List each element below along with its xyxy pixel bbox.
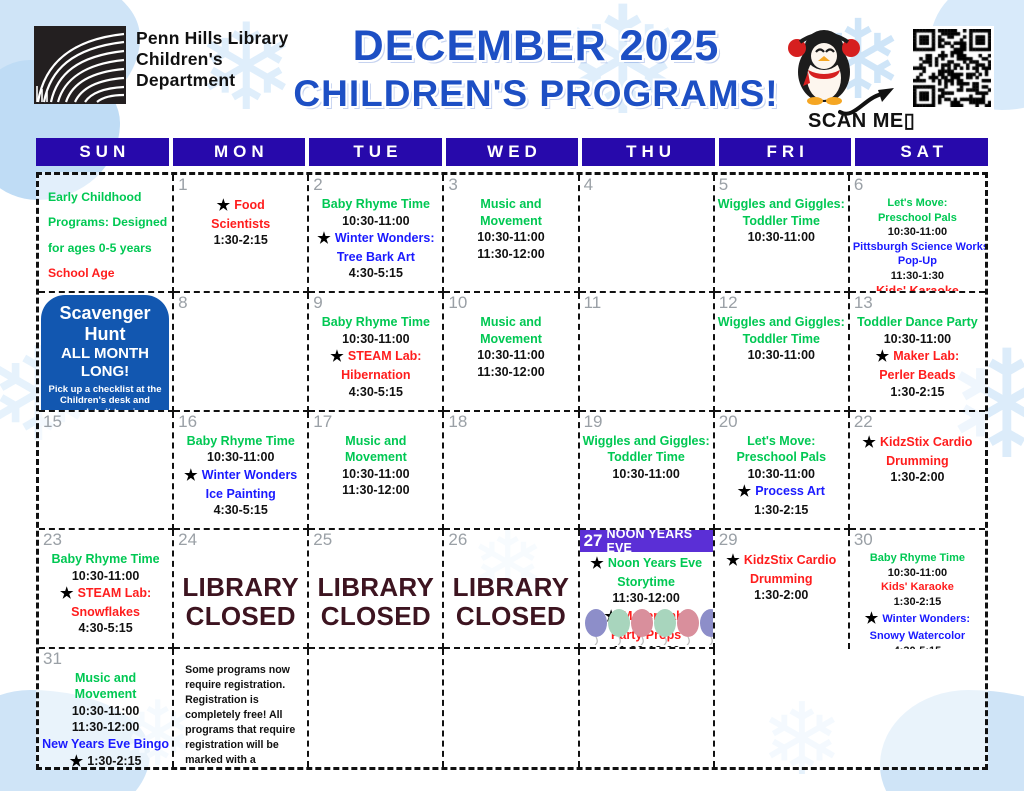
event-text: 11:30-12:00 bbox=[72, 720, 139, 734]
event-text: Tree Bark Art bbox=[337, 250, 415, 264]
event-text: Movement bbox=[75, 687, 137, 701]
event-text: Baby Rhyme Time bbox=[870, 552, 965, 564]
event-text: 10:30-11:00 bbox=[888, 226, 947, 238]
event-text: 10:30-11:00 bbox=[748, 348, 815, 362]
weekday-header-row: SUN MON TUE WED THU FRI SAT bbox=[36, 138, 988, 166]
day-cell-20[interactable]: 20Let's Move:Preschool Pals10:30-11:00★ … bbox=[715, 412, 850, 530]
event-title: Hibernation bbox=[312, 367, 439, 384]
closed-line-1: LIBRARY bbox=[177, 573, 304, 602]
closed-line-1: LIBRARY bbox=[312, 573, 439, 602]
nye-day-number: 27 bbox=[584, 531, 603, 551]
day-number: 13 bbox=[854, 293, 873, 313]
event-text: Music and bbox=[480, 197, 541, 211]
day-number: 12 bbox=[719, 293, 738, 313]
event-text: 1:30-2:15 bbox=[754, 503, 808, 517]
day-cell-1[interactable]: 1★ FoodScientists1:30-2:15 bbox=[174, 175, 309, 293]
day-number: 2 bbox=[313, 175, 322, 195]
registration-star-icon: ★ bbox=[738, 483, 756, 500]
registration-star-icon: ★ bbox=[70, 753, 88, 767]
scavenger-allmonth-2: LONG! bbox=[47, 363, 163, 380]
title-subtitle: CHILDREN'S PROGRAMS! bbox=[292, 72, 780, 116]
event-title: Baby Rhyme Time bbox=[42, 551, 169, 568]
day-number: 4 bbox=[584, 175, 593, 195]
day-number: 16 bbox=[178, 412, 197, 432]
event-time: 10:30-11:00 bbox=[718, 229, 845, 246]
event-text: 11:30-12:00 bbox=[342, 483, 409, 497]
event-title: Perler Beads bbox=[853, 367, 982, 384]
event-text: 1:30-2:15 bbox=[87, 754, 141, 767]
event-text: Wiggles and Giggles: bbox=[583, 434, 710, 448]
event-text: Baby Rhyme Time bbox=[322, 315, 430, 329]
event-time: 10:30-11:00 bbox=[853, 566, 982, 581]
noon-years-eve-banner: 27NOON YEARS EVE bbox=[580, 530, 713, 552]
day-cell-2[interactable]: 2Baby Rhyme Time10:30-11:00★ Winter Wond… bbox=[309, 175, 444, 293]
day-cell-18[interactable]: 18 bbox=[444, 412, 579, 530]
event-text: 10:30-11:00 bbox=[888, 567, 947, 579]
weekday-mon: MON bbox=[173, 138, 306, 166]
day-cell-25[interactable]: 25LIBRARYCLOSED bbox=[309, 530, 444, 648]
event-time: 4:30-5:15 bbox=[177, 502, 304, 519]
event-title: Preschool Pals bbox=[718, 449, 845, 466]
event-time: 10:30-11:00 bbox=[853, 225, 982, 240]
event-title: Storytime bbox=[583, 574, 710, 591]
day-cell-24[interactable]: 24LIBRARYCLOSED bbox=[174, 530, 309, 648]
event-title: Pop-Up bbox=[853, 254, 982, 269]
event-title: Pittsburgh Science Workshop bbox=[853, 240, 982, 255]
day-number: 19 bbox=[584, 412, 603, 432]
event-text: 10:30-11:00 bbox=[342, 332, 409, 346]
event-text: Preschool Pals bbox=[736, 450, 826, 464]
event-text: Pop-Up bbox=[898, 255, 937, 267]
event-text: Winter Wonders: bbox=[335, 231, 435, 245]
event-text: Music and bbox=[480, 315, 541, 329]
scavenger-title-1: Scavenger bbox=[47, 303, 163, 323]
event-title: Toddler Time bbox=[718, 331, 845, 348]
registration-star-icon: ★ bbox=[726, 552, 744, 569]
event-title: ★ Winter Wonders bbox=[177, 466, 304, 486]
closed-line-2: CLOSED bbox=[312, 602, 439, 631]
registration-note: Some programs now require registration. … bbox=[177, 651, 304, 767]
event-text: 4:30-5:15 bbox=[214, 503, 268, 517]
event-title: Toddler Dance Party bbox=[853, 314, 982, 331]
day-events: Music andMovement10:30-11:0011:30-12:00 bbox=[447, 177, 574, 262]
event-time: 1:30-2:15 bbox=[853, 595, 982, 610]
event-time: 4:30-5:15 bbox=[853, 644, 982, 649]
event-title: Toddler Time bbox=[583, 449, 710, 466]
event-time: 10:30-11:00 bbox=[447, 229, 574, 246]
day-cell-10[interactable]: 10Music andMovement10:30-11:0011:30-12:0… bbox=[444, 293, 579, 411]
event-time: 10:30-11:00 bbox=[447, 347, 574, 364]
event-text: New Years Eve Bingo bbox=[42, 737, 169, 751]
event-text: Winter Wonders bbox=[202, 468, 298, 482]
event-text: Music and bbox=[75, 671, 136, 685]
day-cell-31[interactable]: 31Music andMovement10:30-11:0011:30-12:0… bbox=[39, 649, 174, 767]
event-title: Drumming bbox=[853, 453, 982, 470]
event-title: Wiggles and Giggles: bbox=[583, 433, 710, 450]
day-cell-19[interactable]: 19Wiggles and Giggles:Toddler Time10:30-… bbox=[580, 412, 715, 530]
legend-line: Programs: Designed bbox=[48, 210, 167, 235]
event-title: Let's Move: bbox=[718, 433, 845, 450]
event-text: Toddler Time bbox=[743, 214, 820, 228]
event-title: ★ Winter Wonders: bbox=[312, 229, 439, 249]
day-number: 26 bbox=[448, 530, 467, 550]
event-title: Baby Rhyme Time bbox=[312, 196, 439, 213]
event-title: Tree Bark Art bbox=[312, 249, 439, 266]
event-time: 10:30-11:00 bbox=[718, 466, 845, 483]
event-time: 1:30-2:00 bbox=[718, 587, 845, 604]
day-cell-11[interactable]: 11 bbox=[580, 293, 715, 411]
empty-cell bbox=[444, 649, 579, 767]
calendar-grid: Early ChildhoodPrograms: Designedfor age… bbox=[36, 172, 988, 770]
event-time: 11:30-12:00 bbox=[312, 482, 439, 499]
day-number: 20 bbox=[719, 412, 738, 432]
title-month-year: DECEMBER 2025 bbox=[292, 22, 780, 70]
logo-mark-icon bbox=[34, 26, 126, 104]
event-title: Snowy Watercolor bbox=[853, 629, 982, 644]
scavenger-title-2: Hunt bbox=[47, 324, 163, 344]
day-events bbox=[583, 177, 710, 196]
day-cell-29[interactable]: 29★ KidzStix CardioDrumming1:30-2:00 bbox=[715, 530, 850, 648]
event-time: 1:30-2:15 bbox=[853, 384, 982, 401]
scan-me-label: SCAN ME▯ bbox=[808, 108, 915, 133]
registration-star-icon: ★ bbox=[60, 585, 78, 602]
day-cell-8[interactable]: 8 bbox=[174, 293, 309, 411]
event-text: 1:30-2:00 bbox=[890, 470, 944, 484]
day-events: Let's Move:Preschool Pals10:30-11:00Pitt… bbox=[853, 177, 982, 293]
day-events bbox=[583, 295, 710, 314]
event-text: Storytime bbox=[617, 575, 675, 589]
event-text: Wiggles and Giggles: bbox=[718, 197, 845, 211]
weekday-sun: SUN bbox=[36, 138, 169, 166]
legend-line: for ages 0-5 years bbox=[48, 236, 167, 261]
event-text: Movement bbox=[480, 214, 542, 228]
event-text: 1:30-2:15 bbox=[214, 233, 268, 247]
event-title: Movement bbox=[42, 686, 169, 703]
event-time: 4:30-5:15 bbox=[312, 265, 439, 282]
day-number: 24 bbox=[178, 530, 197, 550]
logo-text: Penn Hills Library Children's Department bbox=[136, 26, 288, 92]
registration-star-icon: ★ bbox=[330, 348, 348, 365]
day-cell-4[interactable]: 4 bbox=[580, 175, 715, 293]
day-cell-22[interactable]: 22★ KidzStix CardioDrumming1:30-2:00 bbox=[850, 412, 985, 530]
qr-glyph-icon: ▯ bbox=[904, 110, 916, 132]
legend-line: Early Childhood bbox=[48, 185, 167, 210]
day-number: 3 bbox=[448, 175, 457, 195]
day-number: 11 bbox=[584, 293, 602, 313]
event-text: 1:30-2:15 bbox=[890, 385, 944, 399]
event-text: 10:30-11:00 bbox=[72, 704, 139, 718]
nye-banner-label: NOON YEARS EVE bbox=[606, 530, 712, 555]
scan-me-text: SCAN ME bbox=[808, 110, 904, 132]
balloons-icon bbox=[584, 607, 715, 645]
event-title: ★ STEAM Lab: bbox=[312, 347, 439, 367]
event-title: Ice Painting bbox=[177, 486, 304, 503]
event-text: Drumming bbox=[886, 454, 949, 468]
registration-note-cell: Some programs now require registration. … bbox=[174, 649, 309, 767]
event-title: Wiggles and Giggles: bbox=[718, 196, 845, 213]
event-time: 4:30-5:15 bbox=[42, 620, 169, 637]
event-time: 11:30-12:00 bbox=[583, 590, 710, 607]
event-text: Maker Lab: bbox=[893, 349, 959, 363]
event-text: 10:30-11:00 bbox=[342, 214, 409, 228]
event-title: Scientists bbox=[177, 216, 304, 233]
event-text: Let's Move: bbox=[747, 434, 815, 448]
day-events bbox=[177, 295, 304, 314]
event-text: 11:30-1:30 bbox=[891, 270, 944, 282]
event-text: 1:30-2:00 bbox=[754, 588, 808, 602]
day-cell-27[interactable]: 27NOON YEARS EVE★ Noon Years EveStorytim… bbox=[580, 530, 715, 648]
day-number: 18 bbox=[448, 412, 467, 432]
event-text: Wiggles and Giggles: bbox=[718, 315, 845, 329]
registration-star-icon: ★ bbox=[217, 197, 235, 214]
event-text: KidzStix Cardio bbox=[744, 553, 836, 567]
weekday-tue: TUE bbox=[309, 138, 442, 166]
day-cell-15[interactable]: 15 bbox=[39, 412, 174, 530]
event-text: Snowflakes bbox=[71, 605, 140, 619]
event-title: ★ Winter Wonders: bbox=[853, 609, 982, 629]
day-number: 29 bbox=[719, 530, 738, 550]
empty-cell bbox=[580, 649, 715, 767]
day-cell-16[interactable]: 16Baby Rhyme Time10:30-11:00★ Winter Won… bbox=[174, 412, 309, 530]
day-number: 1 bbox=[178, 175, 187, 195]
day-cell-13[interactable]: 13Toddler Dance Party10:30-11:00★ Maker … bbox=[850, 293, 985, 411]
scavenger-hunt-cell: ScavengerHuntALL MONTHLONG!Pick up a che… bbox=[39, 293, 174, 411]
event-time: ★ 1:30-2:15 bbox=[42, 752, 169, 767]
event-time: 11:30-1:30 bbox=[853, 269, 982, 284]
event-time: 4:30-5:15 bbox=[312, 384, 439, 401]
weekday-thu: THU bbox=[582, 138, 715, 166]
day-cell-23[interactable]: 23Baby Rhyme Time10:30-11:00★ STEAM Lab:… bbox=[39, 530, 174, 648]
day-cell-12[interactable]: 12Wiggles and Giggles:Toddler Time10:30-… bbox=[715, 293, 850, 411]
day-number: 9 bbox=[313, 293, 322, 313]
event-text: Music and bbox=[345, 434, 406, 448]
event-title: ★ Noon Years Eve bbox=[583, 554, 710, 574]
library-logo: Penn Hills Library Children's Department bbox=[34, 26, 288, 104]
event-text: 10:30-11:00 bbox=[72, 569, 139, 583]
scavenger-detail: Pick up a checklist at the Children's de… bbox=[47, 384, 163, 412]
event-title: Kids' Karaoke bbox=[853, 283, 982, 293]
library-closed-label: LIBRARYCLOSED bbox=[177, 551, 304, 630]
event-text: Baby Rhyme Time bbox=[322, 197, 430, 211]
event-text: Process Art bbox=[755, 484, 825, 498]
event-text: KidzStix Cardio bbox=[880, 435, 972, 449]
event-title: Kids' Karaoke bbox=[853, 580, 982, 595]
event-text: Movement bbox=[345, 450, 407, 464]
event-text: 4:30-5:15 bbox=[78, 621, 132, 635]
event-text: Toddler Time bbox=[743, 332, 820, 346]
scavenger-hunt-box: ScavengerHuntALL MONTHLONG!Pick up a che… bbox=[41, 295, 169, 411]
event-text: STEAM Lab: bbox=[348, 349, 422, 363]
event-time: 1:30-2:15 bbox=[177, 232, 304, 249]
library-closed-label: LIBRARYCLOSED bbox=[312, 551, 439, 630]
legend-line: School Age bbox=[48, 261, 167, 286]
day-number: 31 bbox=[43, 649, 62, 669]
event-text: 10:30-11:00 bbox=[884, 332, 951, 346]
event-title: ★ Maker Lab: bbox=[853, 347, 982, 367]
event-text: Perler Beads bbox=[879, 368, 955, 382]
event-text: Drumming bbox=[750, 572, 813, 586]
event-text: 11:30-12:00 bbox=[612, 591, 679, 605]
registration-star-icon: ★ bbox=[865, 610, 883, 627]
day-number: 8 bbox=[178, 293, 187, 313]
event-time: 11:30-12:00 bbox=[42, 719, 169, 736]
event-text: Kids' Karaoke bbox=[881, 581, 954, 593]
weekday-fri: FRI bbox=[719, 138, 852, 166]
event-time: 10:30-11:00 bbox=[42, 703, 169, 720]
event-time: 10:30-11:00 bbox=[312, 213, 439, 230]
weekday-wed: WED bbox=[446, 138, 579, 166]
day-cell-3[interactable]: 3Music andMovement10:30-11:0011:30-12:00 bbox=[444, 175, 579, 293]
event-text: Food bbox=[234, 198, 265, 212]
logo-line-3: Department bbox=[136, 70, 288, 91]
event-text: 10:30-11:00 bbox=[342, 467, 409, 481]
event-text: Baby Rhyme Time bbox=[187, 434, 295, 448]
legend-cell: Early ChildhoodPrograms: Designedfor age… bbox=[39, 175, 174, 293]
event-text: Hibernation bbox=[341, 368, 410, 382]
event-title: Preschool Pals bbox=[853, 211, 982, 226]
day-cell-30[interactable]: 30Baby Rhyme Time10:30-11:00Kids' Karaok… bbox=[850, 530, 985, 648]
event-text: 11:30-12:00 bbox=[477, 247, 544, 261]
note-para-1: Some programs now require registration. … bbox=[185, 663, 298, 767]
event-text: Snowy Watercolor bbox=[870, 630, 966, 642]
closed-line-2: CLOSED bbox=[177, 602, 304, 631]
event-text: 4:30-5:15 bbox=[349, 266, 403, 280]
event-text: 10:30-11:00 bbox=[748, 230, 815, 244]
day-number: 6 bbox=[854, 175, 863, 195]
event-title: Movement bbox=[447, 331, 574, 348]
day-cell-6[interactable]: 6Let's Move:Preschool Pals10:30-11:00Pit… bbox=[850, 175, 985, 293]
day-number: 23 bbox=[43, 530, 62, 550]
event-title: Let's Move: bbox=[853, 196, 982, 211]
event-title: Music and bbox=[42, 670, 169, 687]
event-title: Music and bbox=[447, 196, 574, 213]
empty-cell bbox=[309, 649, 444, 767]
event-text: Noon Years Eve bbox=[608, 556, 702, 570]
page-title: DECEMBER 2025 CHILDREN'S PROGRAMS! bbox=[292, 22, 780, 116]
event-title: ★ STEAM Lab: bbox=[42, 584, 169, 604]
event-text: Pittsburgh Science Workshop bbox=[853, 241, 985, 253]
day-events: Wiggles and Giggles:Toddler Time10:30-11… bbox=[718, 177, 845, 246]
event-text: Baby Rhyme Time bbox=[51, 552, 159, 566]
event-text: Movement bbox=[480, 332, 542, 346]
day-cell-17[interactable]: 17Music andMovement10:30-11:0011:30-12:0… bbox=[309, 412, 444, 530]
weekday-sat: SAT bbox=[855, 138, 988, 166]
event-text: Kids' Karaoke bbox=[876, 284, 959, 293]
event-text: Scientists bbox=[211, 217, 270, 231]
event-text: 10:30-11:00 bbox=[748, 467, 815, 481]
event-time: 10:30-11:00 bbox=[177, 449, 304, 466]
event-text: Toddler Dance Party bbox=[857, 315, 978, 329]
event-time: 1:30-2:15 bbox=[718, 502, 845, 519]
event-text: 4:30-5:15 bbox=[894, 645, 942, 649]
event-title: ★ KidzStix Cardio bbox=[718, 551, 845, 571]
event-text: 1:30-2:15 bbox=[894, 596, 942, 608]
event-text: 10:30-11:00 bbox=[207, 450, 274, 464]
event-time: 1:30-2:00 bbox=[853, 469, 982, 486]
day-cell-9[interactable]: 9Baby Rhyme Time10:30-11:00★ STEAM Lab:H… bbox=[309, 293, 444, 411]
event-title: New Years Eve Bingo bbox=[42, 736, 169, 753]
day-events: ★ FoodScientists1:30-2:15 bbox=[177, 177, 304, 249]
day-number: 5 bbox=[719, 175, 728, 195]
event-title: Wiggles and Giggles: bbox=[718, 314, 845, 331]
scavenger-allmonth-1: ALL MONTH bbox=[47, 345, 163, 362]
event-time: 10:30-11:00 bbox=[853, 331, 982, 348]
event-time: 11:30-12:00 bbox=[447, 364, 574, 381]
event-text: 10:30-11:00 bbox=[477, 348, 544, 362]
event-time: 11:30-12:00 bbox=[447, 246, 574, 263]
closed-line-2: CLOSED bbox=[447, 602, 574, 631]
registration-star-icon: ★ bbox=[317, 230, 335, 247]
event-title: ★ Food bbox=[177, 196, 304, 216]
event-title: Drumming bbox=[718, 571, 845, 588]
library-closed-label: LIBRARYCLOSED bbox=[447, 551, 574, 630]
event-title: Baby Rhyme Time bbox=[853, 551, 982, 566]
registration-star-icon: ★ bbox=[184, 467, 202, 484]
day-number: 10 bbox=[448, 293, 467, 313]
event-text: Let's Move: bbox=[887, 197, 947, 209]
day-events: Baby Rhyme Time10:30-11:00★ Winter Wonde… bbox=[312, 177, 439, 282]
event-title: Movement bbox=[447, 213, 574, 230]
event-title: Music and bbox=[312, 433, 439, 450]
event-text: STEAM Lab: bbox=[78, 586, 152, 600]
registration-star-icon: ★ bbox=[862, 434, 880, 451]
day-number: 15 bbox=[43, 412, 62, 432]
event-title: Baby Rhyme Time bbox=[177, 433, 304, 450]
event-text: 10:30-11:00 bbox=[477, 230, 544, 244]
event-text: Preschool Pals bbox=[878, 212, 957, 224]
day-number: 25 bbox=[313, 530, 332, 550]
event-time: 10:30-11:00 bbox=[718, 347, 845, 364]
event-time: 10:30-11:00 bbox=[583, 466, 710, 483]
event-title: Toddler Time bbox=[718, 213, 845, 230]
event-text: Winter Wonders: bbox=[882, 613, 970, 625]
event-text: Ice Painting bbox=[206, 487, 276, 501]
closed-line-1: LIBRARY bbox=[447, 573, 574, 602]
event-text: Toddler Time bbox=[607, 450, 684, 464]
logo-line-2: Children's bbox=[136, 49, 288, 70]
legend-list: Early ChildhoodPrograms: Designedfor age… bbox=[42, 177, 169, 293]
event-text: 11:30-12:00 bbox=[477, 365, 544, 379]
day-number: 30 bbox=[854, 530, 873, 550]
event-title: Snowflakes bbox=[42, 604, 169, 621]
logo-line-1: Penn Hills Library bbox=[136, 28, 288, 49]
day-cell-26[interactable]: 26LIBRARYCLOSED bbox=[444, 530, 579, 648]
qr-code[interactable] bbox=[910, 26, 994, 110]
registration-star-icon: ★ bbox=[590, 555, 608, 572]
day-number: 17 bbox=[313, 412, 332, 432]
day-number: 22 bbox=[854, 412, 873, 432]
page-header: Penn Hills Library Children's Department… bbox=[0, 0, 1024, 132]
event-text: 4:30-5:15 bbox=[349, 385, 403, 399]
day-cell-5[interactable]: 5Wiggles and Giggles:Toddler Time10:30-1… bbox=[715, 175, 850, 293]
event-text: 10:30-11:00 bbox=[612, 467, 679, 481]
event-title: ★ Process Art bbox=[718, 482, 845, 502]
event-time: 10:30-11:00 bbox=[312, 466, 439, 483]
event-title: ★ KidzStix Cardio bbox=[853, 433, 982, 453]
event-time: 10:30-11:00 bbox=[42, 568, 169, 585]
registration-star-icon: ★ bbox=[876, 348, 894, 365]
event-title: Movement bbox=[312, 449, 439, 466]
legend-line: Programs: Designed bbox=[48, 287, 167, 294]
day-events: Baby Rhyme Time10:30-11:00★ STEAM Lab:Hi… bbox=[312, 295, 439, 400]
event-title: Baby Rhyme Time bbox=[312, 314, 439, 331]
event-time: 10:30-11:00 bbox=[312, 331, 439, 348]
event-title: Music and bbox=[447, 314, 574, 331]
